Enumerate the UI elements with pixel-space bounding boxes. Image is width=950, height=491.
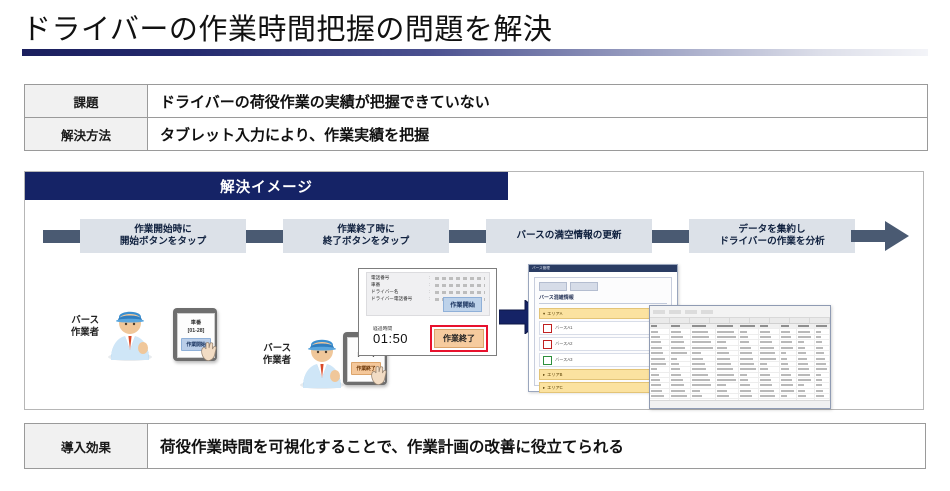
tablet-device-1[interactable]: 車番 [01-28] 作業開始 (173, 308, 217, 361)
flow-step-1-line2: 開始ボタンをタップ (120, 236, 206, 248)
spreadsheet-cell[interactable] (759, 351, 780, 355)
spreadsheet-cell[interactable] (780, 373, 797, 377)
spreadsheet-cell[interactable] (716, 351, 739, 355)
spreadsheet-cell[interactable] (691, 362, 717, 366)
spreadsheet-cell[interactable] (780, 394, 797, 398)
spreadsheet-window[interactable] (649, 305, 831, 409)
callout-end-button[interactable]: 作業終了 (434, 329, 484, 348)
spreadsheet-cell[interactable] (691, 383, 717, 387)
spreadsheet-cell[interactable] (739, 329, 759, 333)
spreadsheet-cell[interactable] (759, 383, 780, 387)
spreadsheet-cell[interactable] (815, 335, 830, 339)
callout-field-value-placeholder (435, 291, 485, 294)
spreadsheet-cell[interactable] (797, 351, 815, 355)
ribbon-control[interactable] (669, 310, 681, 314)
spreadsheet-cell[interactable] (797, 389, 815, 393)
berth-list-item[interactable]: バースA2 (539, 337, 667, 351)
spreadsheet-cell[interactable] (670, 378, 691, 382)
flow-step-4: データを集約し ドライバーの作業を分析 (689, 219, 855, 253)
hand-pointer-icon (370, 365, 387, 385)
spreadsheet-cell[interactable] (650, 329, 670, 333)
spreadsheet-cell[interactable] (691, 324, 717, 328)
row-value-issue: ドライバーの荷役作業の実績が把握できていない (148, 85, 927, 117)
berth-window-title: バース管理 (532, 266, 550, 271)
solution-image-panel: 解決イメージ 作業開始時に 開始ボタンをタップ 作業終了時に 終了ボタンをタップ… (24, 171, 924, 410)
spreadsheet-cell[interactable] (739, 367, 759, 371)
spreadsheet-cell[interactable] (815, 346, 830, 350)
flow-step-3-line1: バースの満空情報の更新 (516, 230, 621, 242)
berth-window-titlebar: バース管理 (529, 265, 677, 272)
spreadsheet-cell[interactable] (780, 351, 797, 355)
berth-status-busy-icon (543, 324, 552, 333)
spreadsheet-cell[interactable] (780, 362, 797, 366)
spreadsheet-cell[interactable] (670, 362, 691, 366)
spreadsheet-cell[interactable] (759, 362, 780, 366)
spreadsheet-cell[interactable] (716, 340, 739, 344)
berth-group-header[interactable]: ▾ エリアA (539, 308, 667, 319)
column-header[interactable] (810, 318, 830, 323)
flow-step-2: 作業終了時に 終了ボタンをタップ (283, 219, 449, 253)
spreadsheet-cell[interactable] (780, 389, 797, 393)
spreadsheet-cell[interactable] (670, 394, 691, 398)
berth-worker-1: バース 作業者 (99, 300, 161, 362)
spreadsheet-status-bar (650, 400, 830, 408)
berth-group-toggle-icon: ▾ (543, 311, 545, 316)
spreadsheet-cell[interactable] (716, 394, 739, 398)
berth-tab-1[interactable] (539, 282, 567, 291)
spreadsheet-cell[interactable] (815, 324, 830, 328)
berth-group-name: エリアC (547, 385, 563, 391)
spreadsheet-cell[interactable] (670, 329, 691, 333)
spreadsheet-cell[interactable] (716, 329, 739, 333)
spreadsheet-cell[interactable] (716, 373, 739, 377)
hand-pointer-icon (200, 341, 217, 361)
spreadsheet-cell[interactable] (650, 351, 670, 355)
spreadsheet-cell[interactable] (650, 394, 670, 398)
column-header[interactable] (710, 318, 730, 323)
callout-start-button[interactable]: 作業開始 (443, 297, 482, 312)
process-flow: 作業開始時に 開始ボタンをタップ 作業終了時に 終了ボタンをタップ バースの満空… (43, 219, 909, 253)
spreadsheet-cell[interactable] (650, 324, 670, 328)
spreadsheet-cell[interactable] (759, 356, 780, 360)
spreadsheet-cell[interactable] (780, 367, 797, 371)
spreadsheet-cell[interactable] (797, 340, 815, 344)
flow-step-3: バースの満空情報の更新 (486, 219, 652, 253)
effect-value: 荷役作業時間を可視化することで、作業計画の改善に役立てられる (148, 424, 925, 468)
spreadsheet-cell[interactable] (739, 324, 759, 328)
spreadsheet-cell[interactable] (780, 340, 797, 344)
spreadsheet-cell[interactable] (670, 356, 691, 360)
spreadsheet-cell[interactable] (797, 383, 815, 387)
spreadsheet-ribbon[interactable] (650, 306, 830, 318)
page-title: ドライバーの作業時間把握の問題を解決 (22, 6, 552, 48)
spreadsheet-cell[interactable] (650, 340, 670, 344)
spreadsheet-cell[interactable] (815, 362, 830, 366)
spreadsheet-cell[interactable] (815, 389, 830, 393)
ribbon-control[interactable] (685, 310, 697, 314)
spreadsheet-cell[interactable] (670, 340, 691, 344)
berth-name: バースA3 (555, 357, 572, 363)
flow-step-1: 作業開始時に 開始ボタンをタップ (80, 219, 246, 253)
spreadsheet-cell[interactable] (797, 362, 815, 366)
spreadsheet-cell[interactable] (650, 362, 670, 366)
spreadsheet-cell[interactable] (670, 335, 691, 339)
column-header[interactable] (770, 318, 790, 323)
spreadsheet-cell[interactable] (759, 389, 780, 393)
spreadsheet-cell[interactable] (815, 356, 830, 360)
spreadsheet-cell[interactable] (797, 367, 815, 371)
column-header[interactable] (730, 318, 750, 323)
berth-worker-2-label: バース 作業者 (255, 342, 291, 366)
tablet-1-vehicle: 車番 [01-28] (188, 320, 205, 334)
effect-label: 導入効果 (25, 424, 148, 468)
spreadsheet-cell[interactable] (650, 356, 670, 360)
spreadsheet-cell[interactable] (780, 378, 797, 382)
spreadsheet-cell[interactable] (691, 340, 717, 344)
spreadsheet-cell[interactable] (691, 389, 717, 393)
spreadsheet-cell[interactable] (691, 356, 717, 360)
spreadsheet-cell[interactable] (759, 329, 780, 333)
spreadsheet-cell[interactable] (815, 367, 830, 371)
spreadsheet-cell[interactable] (797, 378, 815, 382)
spreadsheet-cell[interactable] (691, 394, 717, 398)
column-header[interactable] (750, 318, 770, 323)
spreadsheet-cell[interactable] (739, 383, 759, 387)
spreadsheet-cell[interactable] (759, 346, 780, 350)
berth-group-toggle-icon: ▸ (543, 385, 545, 390)
spreadsheet-cell[interactable] (780, 383, 797, 387)
spreadsheet-cell[interactable] (739, 351, 759, 355)
flow-step-2-line1: 作業終了時に (337, 224, 395, 236)
spreadsheet-cell[interactable] (670, 373, 691, 377)
spreadsheet-cell[interactable] (716, 362, 739, 366)
spreadsheet-cell[interactable] (670, 324, 691, 328)
spreadsheet-cell[interactable] (780, 324, 797, 328)
row-label-issue: 課題 (25, 85, 148, 117)
spreadsheet-cell[interactable] (759, 378, 780, 382)
flow-connector (652, 230, 689, 243)
spreadsheet-cell[interactable] (650, 389, 670, 393)
berth-tab-2[interactable] (570, 282, 598, 291)
spreadsheet-cell[interactable] (797, 394, 815, 398)
callout-end-button-highlight: 作業終了 (430, 325, 488, 352)
flow-connector (246, 230, 283, 243)
spreadsheet-cell[interactable] (780, 346, 797, 350)
spreadsheet-cell[interactable] (759, 335, 780, 339)
effect-table: 導入効果 荷役作業時間を可視化することで、作業計画の改善に役立てられる (24, 423, 926, 469)
spreadsheet-cell[interactable] (739, 373, 759, 377)
tablet-app-callout: 電話番号 : 車番 : ドライバー名 : ドライバー電話番号 : 作業開始 経過… (358, 268, 497, 356)
spreadsheet-cell[interactable] (739, 394, 759, 398)
spreadsheet-cell[interactable] (716, 346, 739, 350)
spreadsheet-cell[interactable] (691, 373, 717, 377)
berth-group-header[interactable]: ▸ エリアB (539, 369, 667, 380)
spreadsheet-grid[interactable] (650, 324, 830, 409)
berth-group-header[interactable]: ▸ エリアC (539, 382, 667, 393)
berth-name: バースA2 (555, 341, 572, 347)
callout-field-value-placeholder (435, 277, 485, 280)
spreadsheet-cell[interactable] (815, 329, 830, 333)
callout-field-value-placeholder (435, 284, 485, 287)
flow-step-1-line1: 作業開始時に (134, 224, 192, 236)
spreadsheet-cell[interactable] (739, 362, 759, 366)
worker-avatar-icon (99, 300, 161, 362)
spreadsheet-cell[interactable] (815, 340, 830, 344)
title-divider-bar (22, 49, 928, 56)
berth-group-name: エリアB (547, 372, 562, 378)
spreadsheet-cell[interactable] (650, 367, 670, 371)
table-row: 課題 ドライバーの荷役作業の実績が把握できていない (25, 85, 927, 118)
flow-step-2-line2: 終了ボタンをタップ (323, 236, 409, 248)
callout-field-row: 電話番号 : (371, 275, 485, 282)
spreadsheet-cell[interactable] (691, 351, 717, 355)
berth-status-free-icon (543, 356, 552, 365)
spreadsheet-cell[interactable] (650, 383, 670, 387)
ribbon-control[interactable] (701, 310, 713, 314)
berth-status-busy-icon (543, 340, 552, 349)
spreadsheet-cell[interactable] (739, 389, 759, 393)
berth-group-toggle-icon: ▸ (543, 372, 545, 377)
spreadsheet-cell[interactable] (759, 340, 780, 344)
berth-tabs[interactable] (539, 282, 667, 291)
spreadsheet-cell[interactable] (759, 394, 780, 398)
callout-form-fields: 電話番号 : 車番 : ドライバー名 : ドライバー電話番号 : 作業開始 (366, 272, 490, 316)
spreadsheet-cell[interactable] (759, 373, 780, 377)
berth-list-item[interactable]: バースA3 (539, 353, 667, 367)
spreadsheet-cell[interactable] (691, 367, 717, 371)
spreadsheet-cell[interactable] (670, 383, 691, 387)
spreadsheet-cell[interactable] (797, 346, 815, 350)
berth-worker-1-label: バース 作業者 (63, 314, 99, 338)
row-label-solution: 解決方法 (25, 118, 148, 150)
spreadsheet-cell[interactable] (691, 378, 717, 382)
column-header[interactable] (670, 318, 690, 323)
spreadsheet-cell[interactable] (716, 367, 739, 371)
berth-name: バースA1 (555, 325, 572, 331)
flow-connector (449, 230, 486, 243)
spreadsheet-cell[interactable] (739, 335, 759, 339)
spreadsheet-cell[interactable] (650, 373, 670, 377)
spreadsheet-cell[interactable] (815, 351, 830, 355)
flow-end-arrow-icon (851, 221, 909, 251)
spreadsheet-cell[interactable] (759, 324, 780, 328)
flow-connector (43, 230, 80, 243)
spreadsheet-cell[interactable] (797, 324, 815, 328)
spreadsheet-cell[interactable] (691, 329, 717, 333)
spreadsheet-cell[interactable] (670, 346, 691, 350)
spreadsheet-cell[interactable] (797, 329, 815, 333)
spreadsheet-cell[interactable] (716, 389, 739, 393)
spreadsheet-cell[interactable] (670, 367, 691, 371)
ribbon-control[interactable] (653, 310, 665, 314)
column-header[interactable] (650, 318, 670, 323)
berth-group-name: エリアA (547, 311, 562, 317)
berth-list-item[interactable]: バースA1 (539, 321, 667, 335)
spreadsheet-cell[interactable] (780, 335, 797, 339)
callout-field-row: 車番 : (371, 282, 485, 289)
spreadsheet-cell[interactable] (739, 378, 759, 382)
spreadsheet-cell[interactable] (716, 378, 739, 382)
column-header[interactable] (790, 318, 810, 323)
spreadsheet-cell[interactable] (739, 340, 759, 344)
spreadsheet-cell[interactable] (815, 394, 830, 398)
spreadsheet-cell[interactable] (815, 373, 830, 377)
flow-step-4-line1: データを集約し (738, 224, 805, 236)
spreadsheet-cell[interactable] (739, 346, 759, 350)
solution-band-title: 解決イメージ (220, 176, 313, 197)
spreadsheet-cell[interactable] (691, 335, 717, 339)
spreadsheet-cell[interactable] (716, 356, 739, 360)
flow-step-4-line2: ドライバーの作業を分析 (719, 236, 824, 248)
spreadsheet-cell[interactable] (739, 356, 759, 360)
spreadsheet-cell[interactable] (650, 378, 670, 382)
callout-elapsed-value: 01:50 (373, 331, 408, 346)
issue-solution-table: 課題 ドライバーの荷役作業の実績が把握できていない 解決方法 タブレット入力によ… (24, 84, 928, 151)
spreadsheet-cell[interactable] (650, 335, 670, 339)
spreadsheet-cell[interactable] (780, 329, 797, 333)
spreadsheet-cell[interactable] (716, 383, 739, 387)
spreadsheet-cell[interactable] (716, 335, 739, 339)
solution-band: 解決イメージ (25, 172, 508, 200)
table-row: 解決方法 タブレット入力により、作業実績を把握 (25, 118, 927, 150)
spreadsheet-cell[interactable] (780, 356, 797, 360)
row-value-solution: タブレット入力により、作業実績を把握 (148, 118, 927, 150)
spreadsheet-cell[interactable] (797, 356, 815, 360)
spreadsheet-cell[interactable] (815, 383, 830, 387)
spreadsheet-cell[interactable] (670, 389, 691, 393)
spreadsheet-cell[interactable] (797, 373, 815, 377)
spreadsheet-cell[interactable] (670, 351, 691, 355)
spreadsheet-cell[interactable] (691, 346, 717, 350)
berth-heading: バース混雑情報 (539, 294, 667, 304)
spreadsheet-cell[interactable] (759, 367, 780, 371)
spreadsheet-cell[interactable] (650, 346, 670, 350)
spreadsheet-cell[interactable] (716, 324, 739, 328)
spreadsheet-cell[interactable] (797, 335, 815, 339)
callout-field-row: ドライバー名 : (371, 289, 485, 296)
column-header[interactable] (690, 318, 710, 323)
spreadsheet-cell[interactable] (815, 378, 830, 382)
